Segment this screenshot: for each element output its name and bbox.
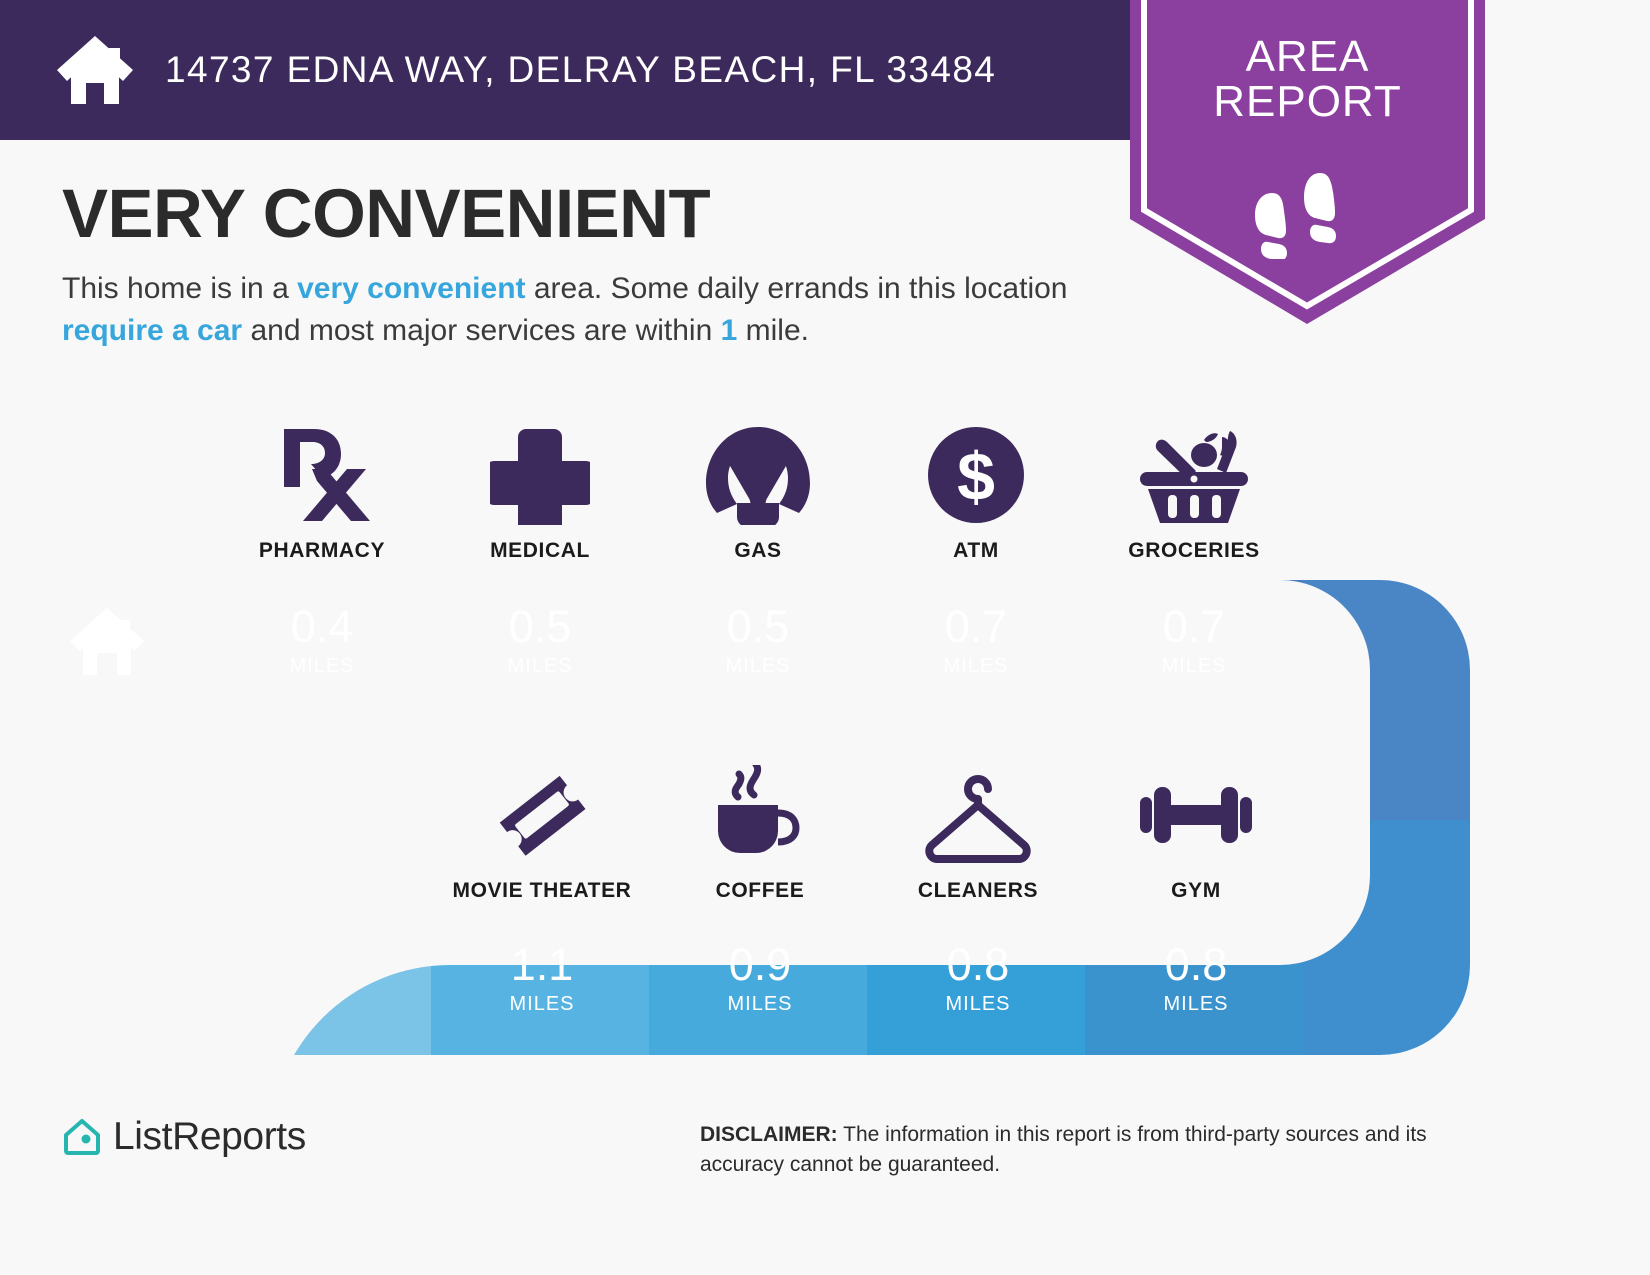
service-icon-cell-gas: GAS [649, 425, 867, 563]
intro-text-3: and most major services are within [242, 314, 721, 347]
disclaimer: DISCLAIMER: The information in this repo… [700, 1120, 1510, 1181]
distance-value: 0.4 [291, 604, 354, 649]
distance-unit: MILES [945, 993, 1010, 1016]
intro-paragraph: This home is in a very convenient area. … [62, 268, 1122, 351]
badge-text: AREA REPORT [1130, 34, 1485, 125]
dumbbell-icon [1138, 765, 1254, 865]
house-icon [55, 34, 135, 106]
intro-highlight-2: require a car [62, 314, 242, 347]
service-label: GROCERIES [1128, 539, 1259, 563]
hanger-icon [922, 765, 1034, 865]
service-label: GYM [1171, 879, 1221, 903]
listreports-house-icon [62, 1117, 102, 1157]
dollar-circle-icon: $ [926, 425, 1026, 525]
distance-value: 0.5 [509, 604, 572, 649]
footprints-icon [1242, 159, 1372, 259]
service-label: PHARMACY [259, 539, 385, 563]
intro-text-1: This home is in a [62, 272, 297, 305]
distance-cell-medical: 0.5 MILES [431, 604, 649, 678]
distance-unit: MILES [509, 993, 574, 1016]
coffee-cup-icon [710, 765, 810, 865]
distance-value: 0.8 [1165, 942, 1228, 987]
distance-value: 0.7 [1163, 604, 1226, 649]
rx-icon [274, 425, 370, 525]
service-label: MEDICAL [490, 539, 590, 563]
service-icon-cell-cleaners: CLEANERS [869, 765, 1087, 903]
badge-line-2: REPORT [1130, 79, 1485, 124]
intro-text-2: area. Some daily errands in this locatio… [526, 272, 1068, 305]
distance-value-row-1: 0.4 MILES 0.5 MILES 0.5 MILES 0.7 MILES … [213, 604, 1303, 678]
intro-text-4: mile. [737, 314, 809, 347]
service-label: COFFEE [716, 879, 805, 903]
distance-cell-coffee: 0.9 MILES [651, 942, 869, 1016]
service-icon-row-1: PHARMACY MEDICAL GAS [213, 425, 1303, 563]
distance-value-row-2: 1.1 MILES 0.9 MILES 0.8 MILES 0.8 MILES [433, 942, 1305, 1016]
service-icon-cell-movie-theater: MOVIE THEATER [433, 765, 651, 903]
service-label: ATM [953, 539, 999, 563]
header-bar: 14737 EDNA WAY, DELRAY BEACH, FL 33484 [0, 0, 1190, 140]
distance-cell-gas: 0.5 MILES [649, 604, 867, 678]
distance-unit: MILES [1163, 993, 1228, 1016]
service-icon-cell-atm: $ ATM [867, 425, 1085, 563]
listreports-wordmark: ListReports [113, 1115, 306, 1159]
distance-unit: MILES [1161, 655, 1226, 678]
distance-unit: MILES [507, 655, 572, 678]
distance-value: 1.1 [511, 942, 574, 987]
distance-value: 0.9 [729, 942, 792, 987]
distance-unit: MILES [727, 993, 792, 1016]
service-icon-row-2: MOVIE THEATER COFFEE CLEANERS [433, 765, 1305, 903]
svg-text:$: $ [957, 439, 995, 515]
distance-cell-movie-theater: 1.1 MILES [433, 942, 651, 1016]
badge-line-1: AREA [1130, 34, 1485, 79]
service-icon-cell-coffee: COFFEE [651, 765, 869, 903]
intro-highlight-3: 1 [721, 314, 738, 347]
service-label: MOVIE THEATER [453, 879, 632, 903]
grocery-basket-icon [1138, 425, 1250, 525]
intro-block: VERY CONVENIENT This home is in a very c… [62, 178, 1122, 351]
disclaimer-label: DISCLAIMER: [700, 1123, 838, 1146]
service-label: GAS [734, 539, 781, 563]
distance-cell-atm: 0.7 MILES [867, 604, 1085, 678]
distance-value: 0.7 [945, 604, 1008, 649]
area-report-badge: AREA REPORT [1130, 0, 1485, 324]
header-address: 14737 EDNA WAY, DELRAY BEACH, FL 33484 [165, 49, 996, 91]
ticket-icon [492, 765, 592, 865]
shell-icon [704, 425, 812, 525]
distance-unit: MILES [289, 655, 354, 678]
service-icon-cell-medical: MEDICAL [431, 425, 649, 563]
listreports-logo[interactable]: ListReports [62, 1115, 306, 1159]
service-icon-cell-gym: GYM [1087, 765, 1305, 903]
service-icon-cell-groceries: GROCERIES [1085, 425, 1303, 563]
medical-cross-icon [490, 425, 590, 525]
distance-unit: MILES [725, 655, 790, 678]
service-label: CLEANERS [918, 879, 1038, 903]
distance-value: 0.8 [947, 942, 1010, 987]
distance-cell-cleaners: 0.8 MILES [869, 942, 1087, 1016]
distance-unit: MILES [943, 655, 1008, 678]
distance-cell-pharmacy: 0.4 MILES [213, 604, 431, 678]
distance-cell-groceries: 0.7 MILES [1085, 604, 1303, 678]
service-icon-cell-pharmacy: PHARMACY [213, 425, 431, 563]
distance-value: 0.5 [727, 604, 790, 649]
intro-highlight-1: very convenient [297, 272, 525, 305]
distance-cell-gym: 0.8 MILES [1087, 942, 1305, 1016]
page-title: VERY CONVENIENT [62, 178, 1122, 250]
home-marker-icon [68, 605, 146, 677]
